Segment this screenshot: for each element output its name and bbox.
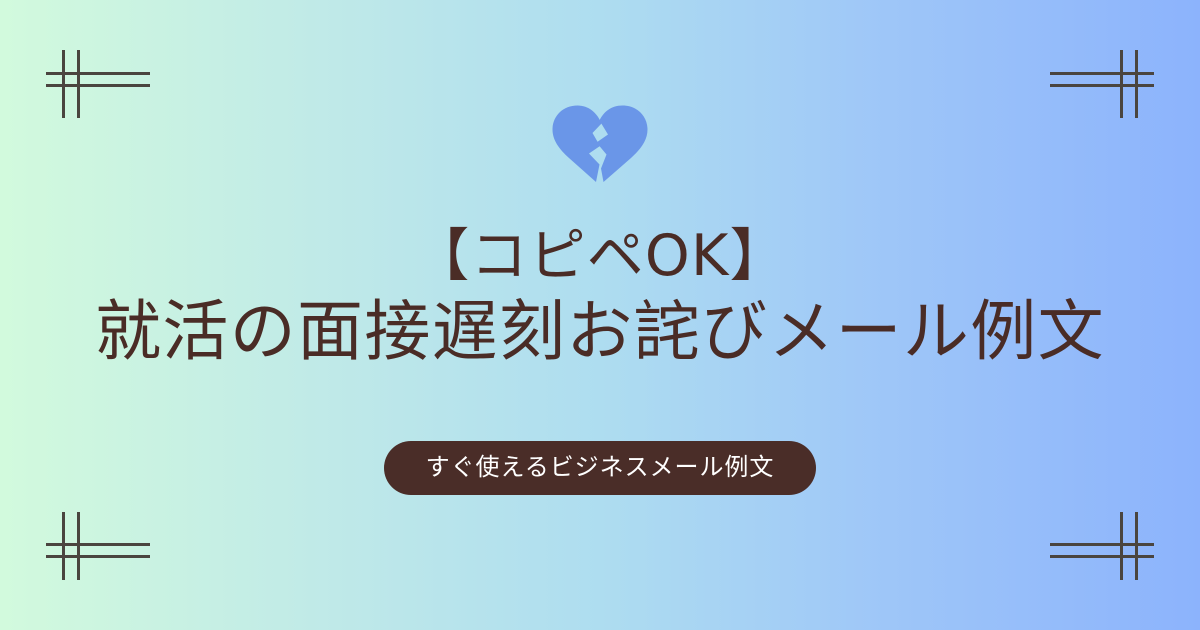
ogp-card: 【コピペOK】 就活の面接遅刻お詫びメール例文 すぐ使えるビジネスメール例文 bbox=[0, 0, 1200, 630]
broken-heart-icon bbox=[551, 104, 649, 182]
title-line-1: 【コピペOK】 bbox=[20, 228, 1180, 285]
card-content: 【コピペOK】 就活の面接遅刻お詫びメール例文 すぐ使えるビジネスメール例文 bbox=[0, 0, 1200, 630]
title-line-2: 就活の面接遅刻お詫びメール例文 bbox=[20, 299, 1180, 365]
page-title: 【コピペOK】 就活の面接遅刻お詫びメール例文 bbox=[20, 228, 1180, 365]
status-badge: すぐ使えるビジネスメール例文 bbox=[384, 441, 817, 495]
